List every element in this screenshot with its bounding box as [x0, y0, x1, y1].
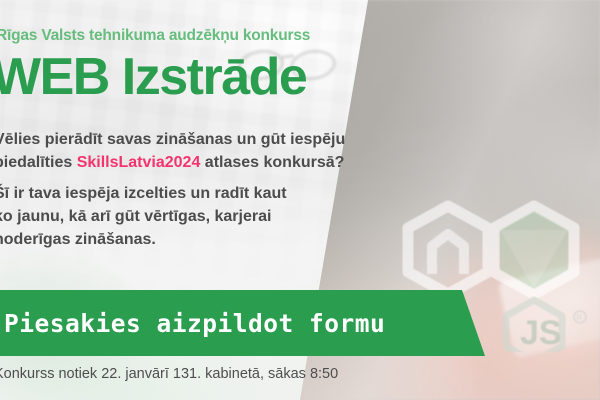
skills-latvia-highlight: SkillsLatvia2024	[77, 154, 201, 171]
svg-text:JS: JS	[520, 314, 562, 352]
paragraph-1-line-2-prefix: piedalīties	[0, 154, 77, 171]
poster-canvas: JS R Rīgas Valsts tehnikuma audzēkņu kon…	[0, 0, 600, 400]
event-details-footnote: Konkurss notiek 22. janvārī 131. kabinet…	[0, 366, 338, 382]
poster-paragraph-2: Šī ir tava iespēja izcelties un radīt ka…	[0, 182, 287, 251]
apply-cta-label: Piesakies aizpildot formu	[4, 309, 385, 338]
paragraph-2-line-2: ko jaunu, kā arī gūt vērtīgas, karjerai	[0, 205, 287, 228]
paragraph-1-line-1: Vēlies pierādīt savas zināšanas un gūt i…	[0, 128, 345, 151]
poster-paragraph-1: Vēlies pierādīt savas zināšanas un gūt i…	[0, 128, 345, 174]
svg-text:R: R	[577, 314, 583, 323]
paragraph-2-line-3: noderīgas zināšanas.	[0, 228, 287, 251]
paragraph-1-line-2-suffix: atlases konkursā?	[200, 154, 344, 171]
page-title: WEB Izstrāde	[0, 50, 306, 105]
paragraph-2-line-1: Šī ir tava iespēja izcelties un radīt ka…	[0, 182, 287, 205]
poster-kicker: Rīgas Valsts tehnikuma audzēkņu konkurss	[0, 27, 310, 45]
apply-cta-banner[interactable]: Piesakies aizpildot formu	[0, 290, 490, 356]
paragraph-1-line-2: piedalīties SkillsLatvia2024 atlases kon…	[0, 151, 345, 174]
